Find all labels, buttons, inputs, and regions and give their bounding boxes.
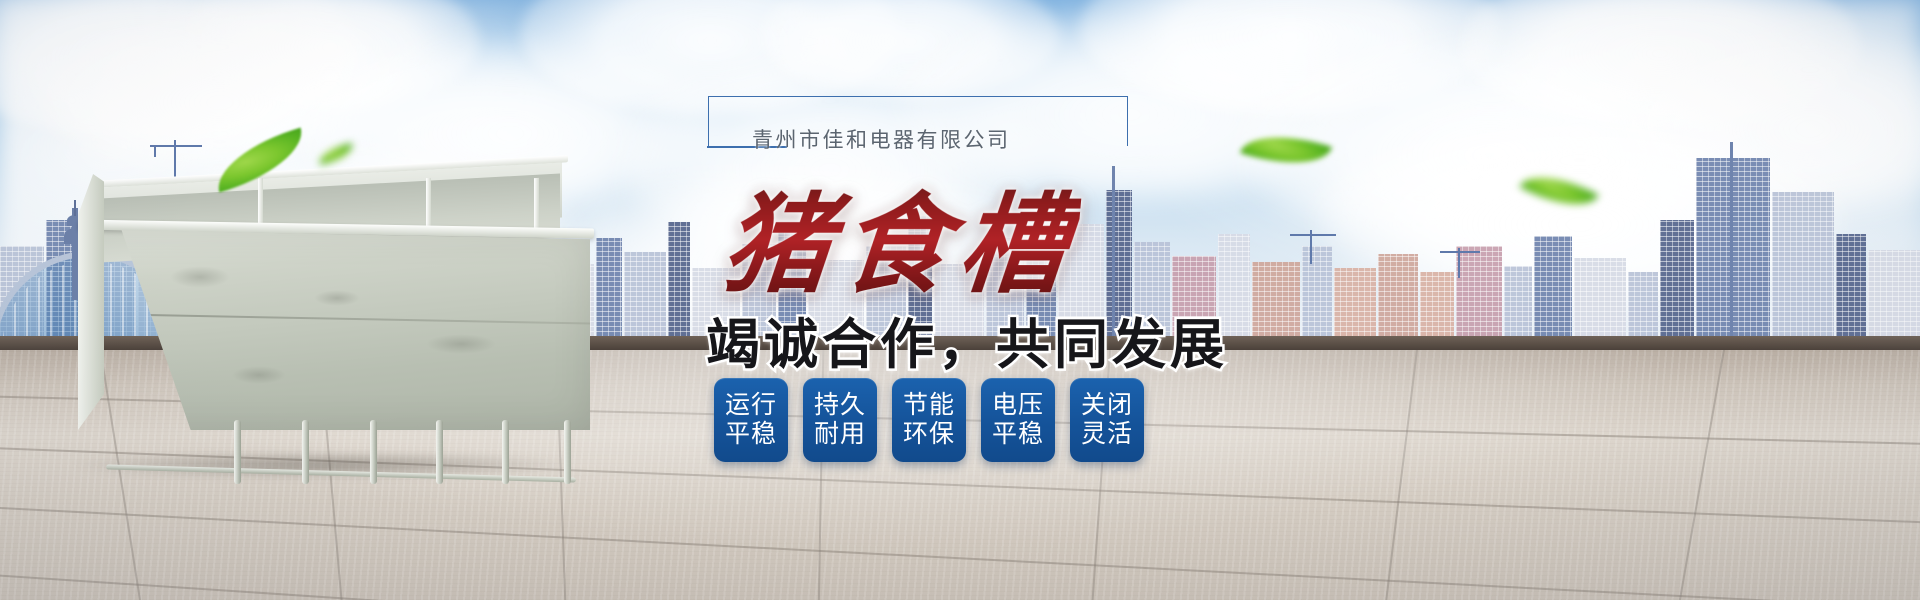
feature-badge-5-line1: 关闭 [1081,391,1133,421]
feature-badge-4-line2: 平稳 [992,420,1044,450]
feature-badge-1-line2: 平稳 [725,420,777,450]
promotional-banner: 青州市佳和电器有限公司 猪食槽 竭诚合作，共同发展 运行 平稳 持久 耐用 节能… [0,0,1920,600]
banner-copy-block: 青州市佳和电器有限公司 猪食槽 竭诚合作，共同发展 运行 平稳 持久 耐用 节能… [700,96,1460,566]
feature-badge-3-line1: 节能 [903,391,955,421]
feature-badge-5-line2: 灵活 [1081,420,1133,450]
company-name-frame: 青州市佳和电器有限公司 [700,96,1130,154]
company-name: 青州市佳和电器有限公司 [752,124,1011,154]
feature-badge-3-line2: 环保 [903,420,955,450]
page-title: 猪食槽 [717,158,1085,314]
feature-badge-1-line1: 运行 [725,391,777,421]
feature-badge-1[interactable]: 运行 平稳 [714,378,788,462]
subtitle-slogan: 竭诚合作，共同发展 [706,300,1228,379]
product-image-steel-trough [78,160,598,480]
feature-badge-5[interactable]: 关闭 灵活 [1070,378,1144,462]
feature-badge-2-line1: 持久 [814,391,866,421]
feature-badge-2[interactable]: 持久 耐用 [803,378,877,462]
feature-badge-2-line2: 耐用 [814,420,866,450]
feature-badge-list: 运行 平稳 持久 耐用 节能 环保 电压 平稳 关闭 灵活 [714,378,1144,462]
feature-badge-3[interactable]: 节能 环保 [892,378,966,462]
feature-badge-4-line1: 电压 [992,391,1044,421]
feature-badge-4[interactable]: 电压 平稳 [981,378,1055,462]
